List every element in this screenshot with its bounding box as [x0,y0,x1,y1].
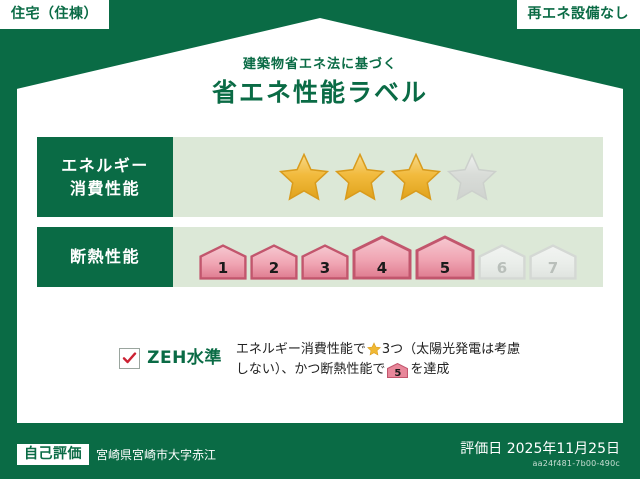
row-insulation-performance: 断熱性能 1234567 [37,227,603,287]
insulation-grade-value: 4 [377,261,387,276]
inline-grade-value: 5 [394,368,401,379]
row-insulation-label: 断熱性能 [37,227,173,287]
evaluation-date: 評価日 2025年11月25日 [460,441,620,458]
row-insulation-label-line1: 断熱性能 [70,245,140,268]
star-icon-filled [389,151,443,203]
zeh-checkbox[interactable] [119,348,140,369]
performance-rows: エネルギー 消費性能 断熱性能 1234567 [37,137,603,297]
property-address: 宮崎県宮崎市大字赤江 [96,449,216,461]
label-footer: 自己評価 宮崎県宮崎市大字赤江 評価日 2025年11月25日 aa24f481… [0,423,640,479]
star-icon-empty [445,151,499,203]
zeh-description: エネルギー消費性能で3つ（太陽光発電は考慮しない）、かつ断熱性能で5を達成 [236,340,521,380]
title-subtitle: 建築物省エネ法に基づく [0,58,640,71]
star-icon-filled [333,151,387,203]
row-energy-label-line2: 消費性能 [70,177,140,200]
insulation-grade-5: 5 [415,235,475,280]
zeh-section: ZEH水準 エネルギー消費性能で3つ（太陽光発電は考慮しない）、かつ断熱性能で5… [0,340,640,380]
insulation-grade-value: 2 [269,261,279,276]
renewable-energy-tag: 再エネ設備なし [517,0,640,29]
zeh-desc-part1: エネルギー消費性能で [236,342,366,357]
title-block: 建築物省エネ法に基づく 省エネ性能ラベル [0,58,640,105]
zeh-desc-part4: を達成 [410,362,449,377]
row-energy-label-line1: エネルギー [61,154,149,177]
star-icon-filled [277,151,331,203]
insulation-grade-value: 7 [548,261,558,276]
check-icon [122,351,137,366]
insulation-grade-scale: 1234567 [199,235,577,280]
building-type-tag: 住宅（住棟） [0,0,109,29]
footer-left: 自己評価 宮崎県宮崎市大字赤江 [17,444,216,465]
row-energy-value [173,137,603,217]
inline-grade-badge: 5 [387,363,408,378]
row-energy-performance: エネルギー 消費性能 [37,137,603,217]
insulation-grade-2: 2 [250,244,298,280]
footer-right: 評価日 2025年11月25日 aa24f481-7b00-490c [460,441,620,469]
zeh-mark: ZEH水準 [119,340,222,369]
insulation-grade-3: 3 [301,244,349,280]
insulation-grade-value: 3 [320,261,330,276]
insulation-grade-1: 1 [199,244,247,280]
insulation-grade-4: 4 [352,235,412,280]
zeh-label: ZEH水準 [147,350,222,367]
insulation-grade-value: 6 [497,261,507,276]
label-id: aa24f481-7b00-490c [460,458,620,469]
insulation-grade-value: 5 [440,261,450,276]
insulation-grade-value: 1 [218,261,228,276]
insulation-grade-6: 6 [478,244,526,280]
star-icon [367,342,381,356]
insulation-grade-7: 7 [529,244,577,280]
energy-performance-label: 住宅（住棟） 再エネ設備なし 建築物省エネ法に基づく 省エネ性能ラベル エネルギ… [0,0,640,479]
row-energy-label: エネルギー 消費性能 [37,137,173,217]
evaluation-type-badge: 自己評価 [17,444,89,465]
page-title: 省エネ性能ラベル [0,80,640,105]
row-insulation-value: 1234567 [173,227,603,287]
zeh-desc-part2: 3つ（太陽光発電 [382,342,481,357]
star-rating [277,151,499,203]
